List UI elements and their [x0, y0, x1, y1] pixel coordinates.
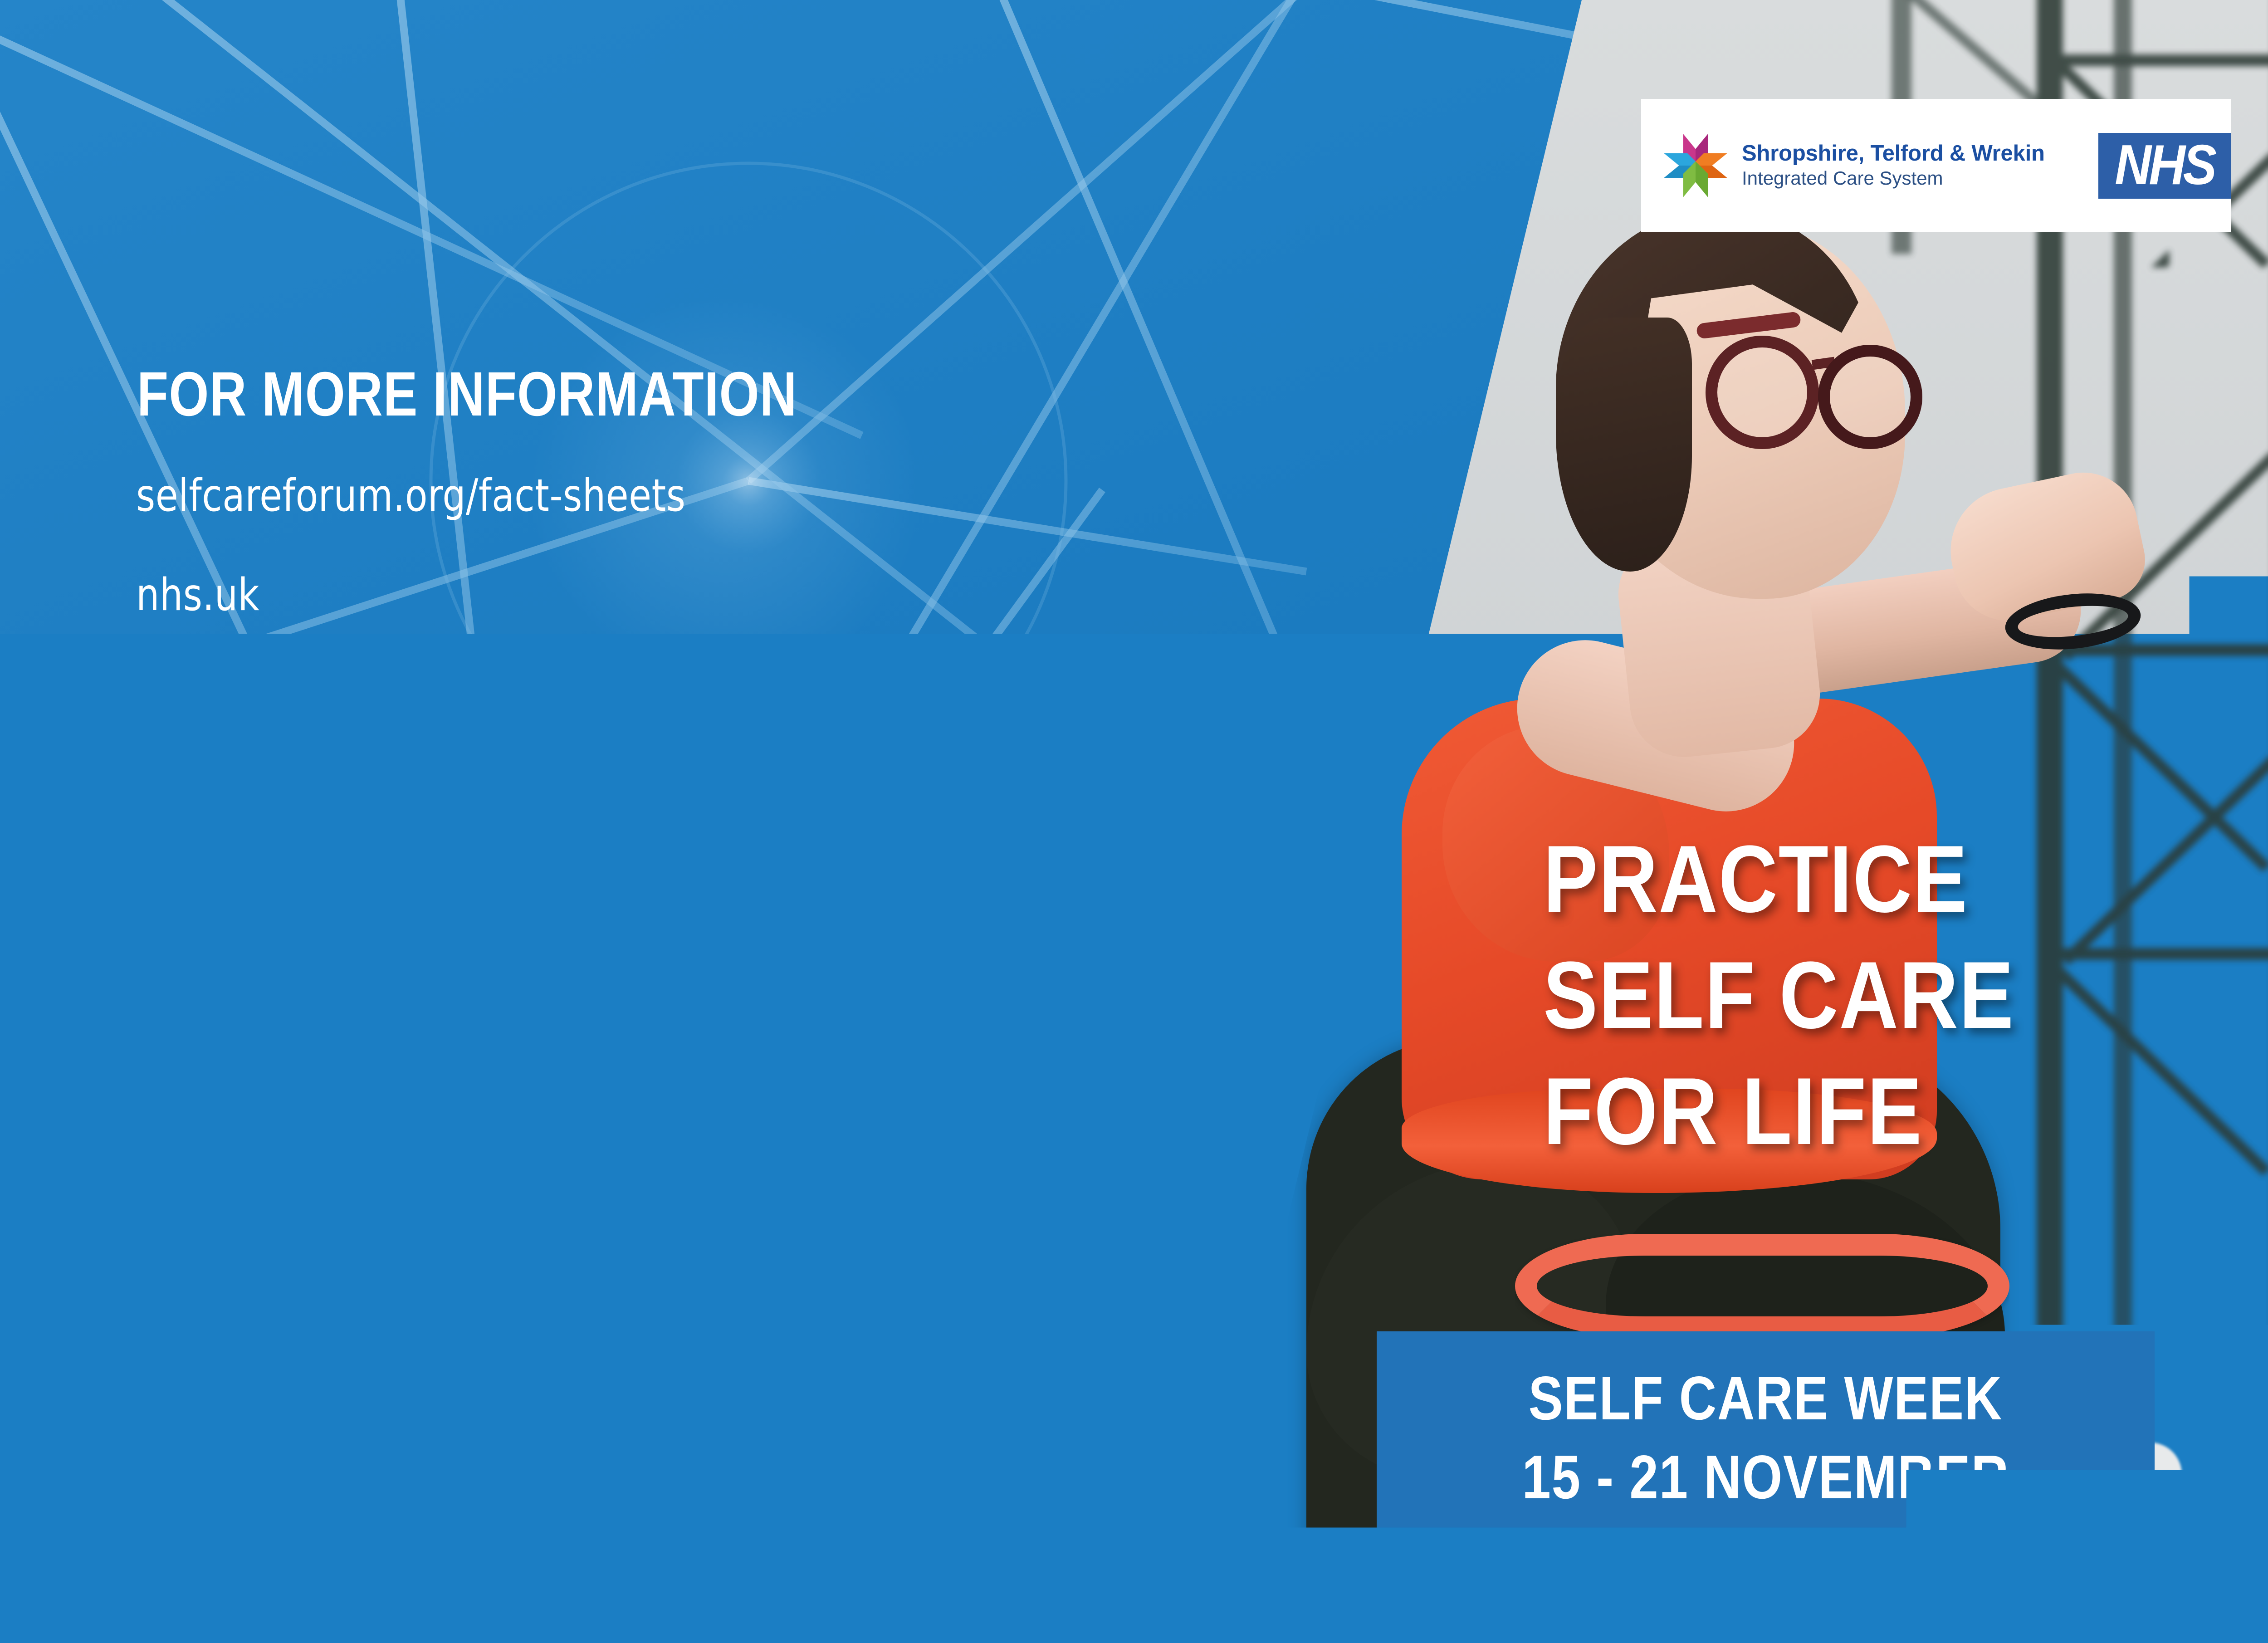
- self-care-week-poster: PRACTICE SELF CARE FOR LIFE SELF CARE WE…: [0, 0, 2268, 1643]
- headline-line-1: PRACTICE: [1543, 821, 2014, 937]
- info-link-line: nhs.uk: [136, 567, 1054, 624]
- nhs-label: NHS: [2115, 142, 2214, 189]
- info-link-selfcareforum[interactable]: selfcareforum.org/fact-sheets: [136, 467, 1054, 525]
- week-banner-dates: 15 - 21 NOVEMBER: [1522, 1438, 2009, 1516]
- headline: PRACTICE SELF CARE FOR LIFE: [1543, 821, 2014, 1170]
- ics-subtitle: Integrated Care System: [1742, 167, 2045, 189]
- info-heading: FOR MORE INFORMATION: [137, 358, 797, 430]
- headline-line-2: SELF CARE: [1543, 937, 2014, 1053]
- self-care-week-banner: SELF CARE WEEK 15 - 21 NOVEMBER: [1377, 1331, 2155, 1544]
- ics-four-point-star-icon: [1661, 131, 1730, 200]
- nhs-logo: NHS: [2098, 133, 2231, 199]
- info-link-nhsuk[interactable]: nhs.uk: [136, 567, 1054, 624]
- logo-bar: Shropshire, Telford & Wrekin Integrated …: [1641, 99, 2231, 232]
- ics-logo-text: Shropshire, Telford & Wrekin Integrated …: [1742, 142, 2045, 189]
- week-banner-title: SELF CARE WEEK: [1529, 1359, 2003, 1438]
- resistance-band: [1515, 1234, 2009, 1338]
- ics-title: Shropshire, Telford & Wrekin: [1742, 142, 2045, 165]
- glasses-left-lens-icon: [1706, 336, 1819, 449]
- info-link-line: selfcareforum.org/fact-sheets: [136, 467, 1054, 525]
- headline-line-3: FOR LIFE: [1543, 1053, 2014, 1169]
- info-links: selfcareforum.org/fact-sheets nhs.uk shr…: [136, 467, 1054, 782]
- ics-logo: Shropshire, Telford & Wrekin Integrated …: [1661, 131, 2045, 200]
- info-link-line: your-health/health-advice/self-care/: [136, 724, 1054, 782]
- info-link-line: shropshiretelfordandwrekinccg.nhs.uk/: [136, 666, 1054, 724]
- info-link-stwccg[interactable]: shropshiretelfordandwrekinccg.nhs.uk/ yo…: [136, 666, 1054, 782]
- hair-back: [1556, 318, 1692, 572]
- glasses-right-lens-icon: [1818, 345, 1922, 449]
